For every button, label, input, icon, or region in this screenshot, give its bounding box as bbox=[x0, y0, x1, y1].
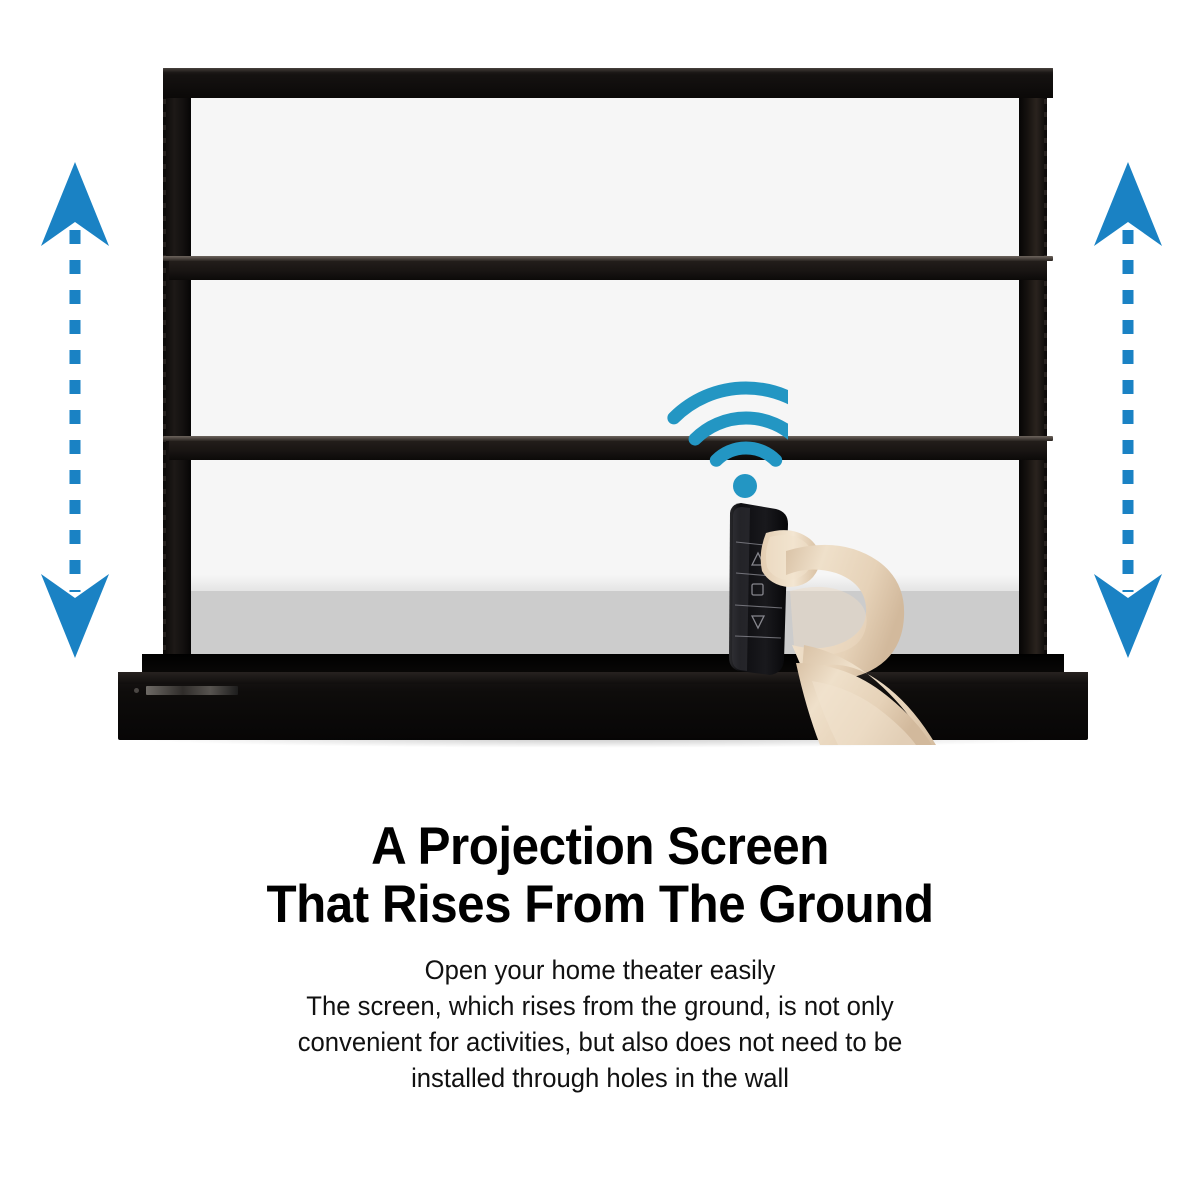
base-brand-badge bbox=[146, 686, 238, 695]
remote-control bbox=[729, 503, 788, 675]
product-photo bbox=[0, 0, 1200, 790]
wireless-signal-icon bbox=[628, 372, 788, 507]
arrow-right-graphic bbox=[1094, 162, 1162, 658]
subtext-line-1: Open your home theater easily bbox=[30, 952, 1170, 988]
page-subtext: Open your home theater easily The screen… bbox=[30, 952, 1170, 1096]
headline-line-1: A Projection Screen bbox=[42, 818, 1158, 876]
subtext-line-4: installed through holes in the wall bbox=[30, 1060, 1170, 1096]
subtext-line-3: convenient for activities, but also does… bbox=[30, 1024, 1170, 1060]
page-headline: A Projection Screen That Rises From The … bbox=[42, 818, 1158, 934]
screen-right-rail bbox=[1019, 86, 1047, 686]
marketing-copy: A Projection Screen That Rises From The … bbox=[0, 818, 1200, 1096]
product-marketing-page: A Projection Screen That Rises From The … bbox=[0, 0, 1200, 1199]
screen-top-beam bbox=[163, 68, 1053, 98]
screen-cross-bar-upper bbox=[169, 256, 1047, 280]
height-arrow-left bbox=[35, 160, 115, 660]
arrow-left-graphic bbox=[41, 162, 109, 658]
subtext-line-2: The screen, which rises from the ground,… bbox=[30, 988, 1170, 1024]
height-arrow-right bbox=[1088, 160, 1168, 660]
screen-left-rail bbox=[163, 86, 191, 686]
hand-holding-remote bbox=[700, 495, 990, 745]
headline-line-2: That Rises From The Ground bbox=[42, 876, 1158, 934]
screen-cross-bar-lower bbox=[169, 436, 1047, 460]
base-indicator-dot bbox=[134, 688, 139, 693]
